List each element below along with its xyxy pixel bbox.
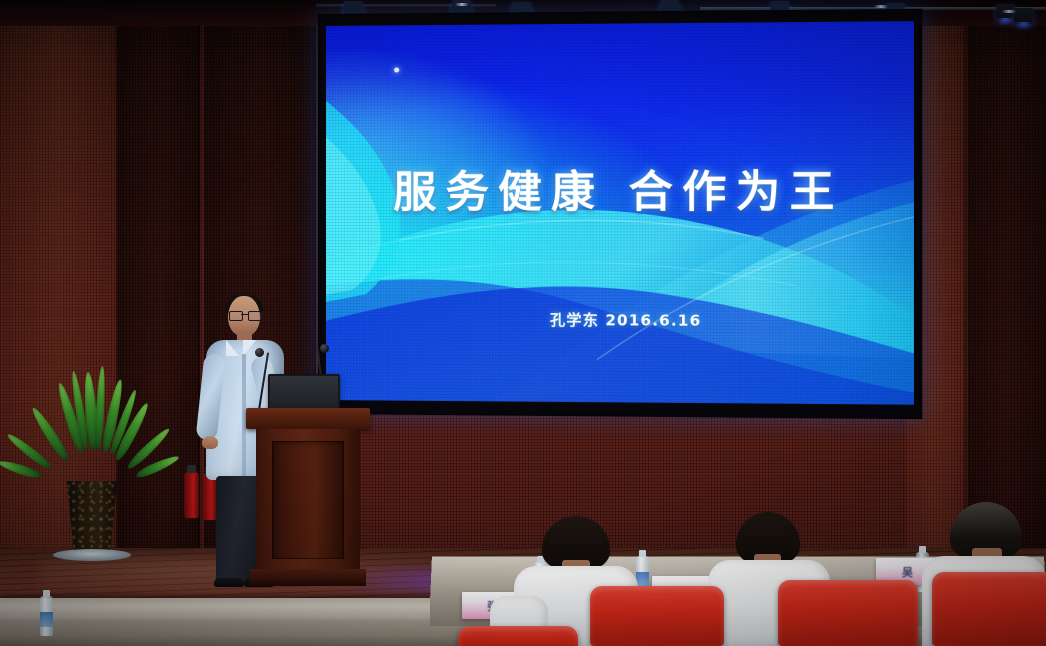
wooden-lectern (252, 408, 364, 586)
lectern-body (256, 429, 360, 569)
presenter-hand-left (202, 436, 218, 449)
wall-panel-seam-1 (116, 0, 122, 600)
lectern-top (246, 408, 370, 429)
light-glint (874, 5, 888, 8)
lectern-base (250, 569, 366, 586)
slide-surface: 服务健康 合作为王 孔学东 2016.6.16 (326, 21, 914, 405)
light-glint (1002, 10, 1016, 13)
red-chair[interactable] (778, 580, 918, 646)
water-bottle[interactable] (40, 596, 53, 636)
slide-byline: 孔学东 2016.6.16 (550, 309, 701, 331)
eyeglasses-icon (229, 311, 260, 319)
microphone-head-left (255, 348, 264, 357)
plant-saucer (53, 549, 131, 561)
conference-photo-scene: 服务健康 合作为王 孔学东 2016.6.16 (0, 0, 1046, 646)
stage-light-icon (1014, 8, 1033, 24)
microphone-head-right (320, 344, 329, 353)
slide-dot-accent (394, 67, 399, 72)
presenter-collar-left (226, 340, 239, 356)
red-chair[interactable] (458, 626, 578, 646)
led-wall-screen[interactable]: 服务健康 合作为王 孔学东 2016.6.16 (318, 9, 922, 419)
red-chair[interactable] (590, 586, 724, 646)
slide-title: 服务健康 合作为王 (326, 157, 914, 221)
wall-panel-dark-3 (968, 0, 1046, 560)
lectern-front-panel (272, 441, 344, 559)
presenter-shoe-left (214, 578, 244, 587)
light-glint (455, 3, 469, 6)
red-chair[interactable] (932, 572, 1046, 646)
